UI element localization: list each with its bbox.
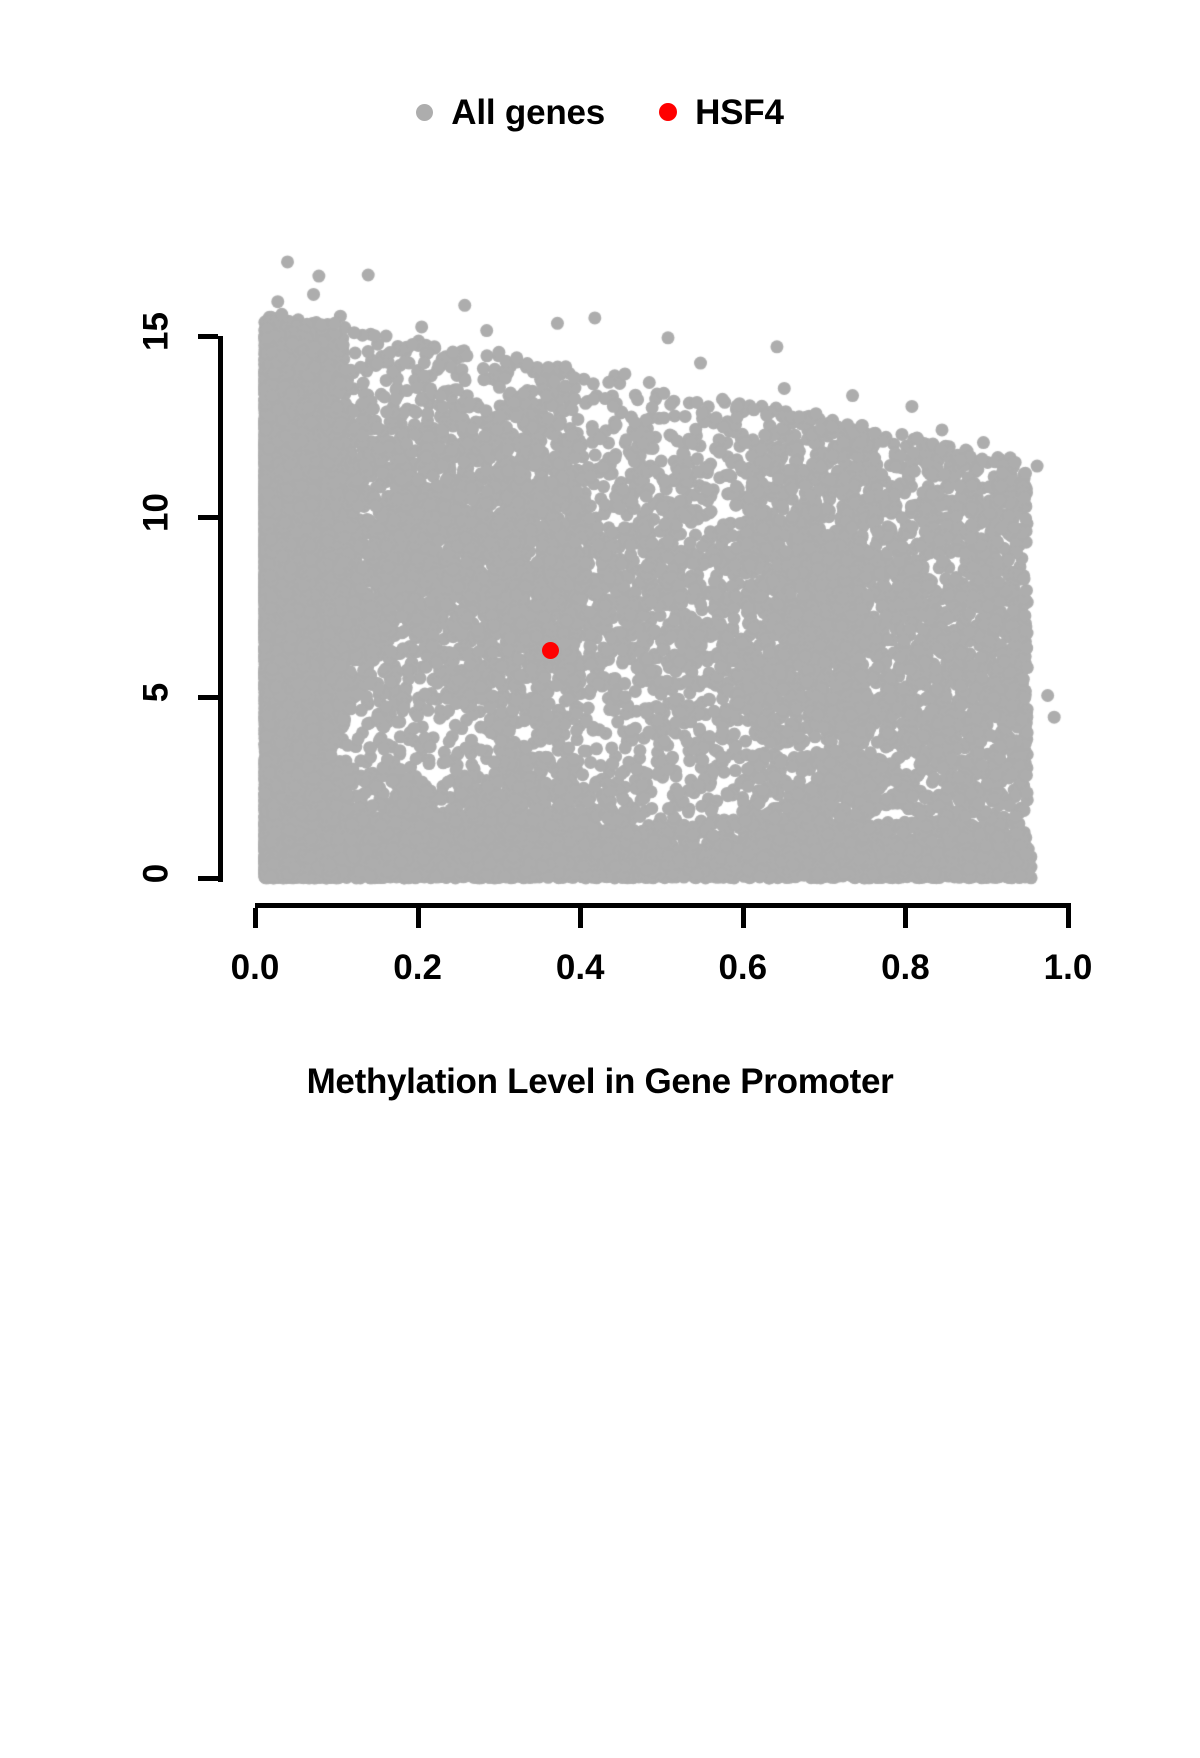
y-axis-tick-label-15: 15 — [139, 302, 174, 362]
x-axis-tick-label-0.4: 0.4 — [525, 950, 635, 985]
y-axis-title-wrapper: Gene Expression Level (log2 RSEM) — [0, 558, 628, 614]
y-axis-tick-5 — [198, 695, 218, 700]
x-axis-title: Methylation Level in Gene Promoter — [0, 1062, 1200, 1102]
x-axis-tick-0.8 — [903, 908, 908, 928]
y-axis-tick-label-5: 5 — [139, 663, 174, 723]
x-axis-tick-1.0 — [1066, 908, 1071, 928]
x-axis-line — [255, 903, 1071, 908]
x-axis-tick-label-0.0: 0.0 — [200, 950, 310, 985]
y-axis-tick-15 — [198, 334, 218, 339]
y-axis-tick-10 — [198, 515, 218, 520]
x-axis-tick-label-1.0: 1.0 — [1013, 950, 1123, 985]
x-axis-tick-label-0.6: 0.6 — [688, 950, 798, 985]
x-axis-tick-0.2 — [416, 908, 421, 928]
scatter-plot-figure: All genes HSF4 0 5 10 15 0.0 0.2 0.4 0.6… — [0, 0, 1200, 1200]
y-axis-tick-label-10: 10 — [139, 482, 174, 542]
x-axis-tick-label-0.2: 0.2 — [363, 950, 473, 985]
x-axis-tick-0.4 — [578, 908, 583, 928]
x-axis-tick-0.6 — [741, 908, 746, 928]
x-axis-tick-0.0 — [253, 908, 258, 928]
y-axis-tick-0 — [198, 876, 218, 881]
y-axis-tick-label-0: 0 — [139, 844, 174, 904]
x-axis-tick-label-0.8: 0.8 — [850, 950, 960, 985]
